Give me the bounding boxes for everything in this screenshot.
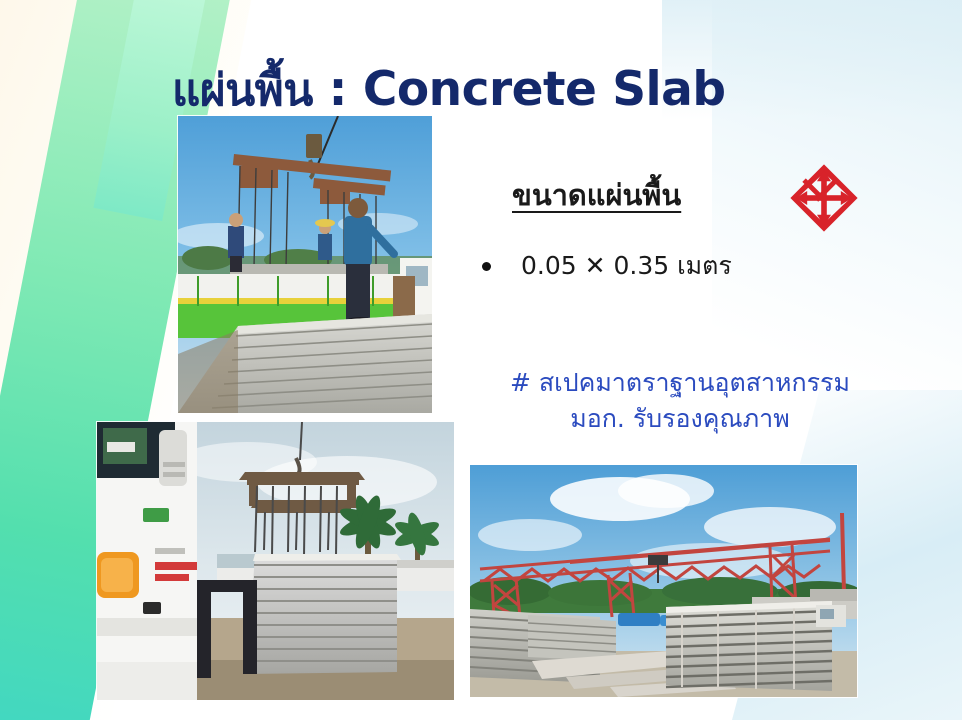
tis-mark-logo-icon [789, 163, 859, 233]
standard-note-line2: มอก. รับรองคุณภาพ [470, 401, 890, 437]
slide-title-english: Concrete Slab [363, 62, 726, 117]
slide-title: แผ่นพื้น : Concrete Slab [172, 55, 726, 125]
photo-white-truck-crane-stack [97, 422, 454, 700]
slide-title-thai: แผ่นพื้น [172, 65, 313, 116]
photo-gantry-crane-slab-yard [470, 465, 857, 697]
photo-white-truck-crane-stack-art [97, 422, 454, 700]
photo-loading-slabs-green-truck [178, 116, 432, 413]
bullet-dot-icon [482, 262, 491, 271]
slab-stack-right [666, 601, 832, 691]
slide-canvas: แผ่นพื้น : Concrete Slab [0, 0, 962, 720]
spec-bullet-row: 0.05 ✕ 0.35 เมตร [482, 246, 732, 286]
worker-left [228, 213, 244, 272]
size-heading: ขนาดแผ่นพื้น [512, 172, 681, 218]
worker-middle [315, 219, 335, 260]
standard-note-line1: # สเปคมาตราฐานอุตสาหกรรม [510, 368, 850, 397]
spec-dimension-text: 0.05 ✕ 0.35 เมตร [521, 246, 732, 286]
white-truck [97, 422, 197, 700]
standard-note: # สเปคมาตราฐานอุตสาหกรรม มอก. รับรองคุณภ… [470, 365, 890, 438]
slab-stack-left-2 [528, 615, 616, 661]
slide-title-separator: : [313, 62, 363, 117]
photo-loading-slabs-green-truck-art [178, 116, 432, 413]
photo-gantry-crane-slab-yard-art [470, 465, 857, 697]
